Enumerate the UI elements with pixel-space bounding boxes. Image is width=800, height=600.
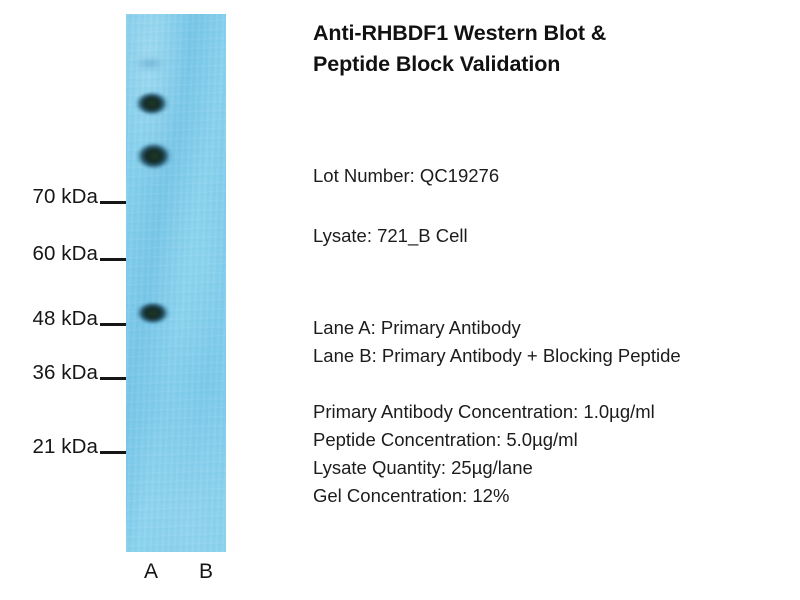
lysate-text: Lysate: 721_B Cell xyxy=(313,224,468,248)
ladder-marker-label: 48 kDa xyxy=(32,307,98,331)
lane-a-description: Lane A: Primary Antibody xyxy=(313,316,521,340)
ladder-marker-60: 60 kDa xyxy=(0,241,126,267)
ladder-marker-36: 36 kDa xyxy=(0,360,126,386)
ladder-marker-label: 70 kDa xyxy=(32,185,98,209)
blot-band-lane-a-mid xyxy=(136,143,173,169)
page-title: Anti-RHBDF1 Western Blot & Peptide Block… xyxy=(313,18,773,80)
gel-concentration: Gel Concentration: 12% xyxy=(313,484,509,508)
ladder-marker-label: 60 kDa xyxy=(32,242,98,266)
figure-caption-panel: Anti-RHBDF1 Western Blot & Peptide Block… xyxy=(313,0,800,600)
lane-label-b: B xyxy=(191,560,221,584)
molecular-weight-ladder: 70 kDa 60 kDa 48 kDa 36 kDa 21 kDa xyxy=(0,0,126,600)
blot-membrane xyxy=(126,14,226,552)
ladder-tick-icon xyxy=(100,201,126,204)
lane-b-description: Lane B: Primary Antibody + Blocking Pept… xyxy=(313,344,681,368)
ladder-marker-70: 70 kDa xyxy=(0,184,126,210)
ladder-marker-48: 48 kDa xyxy=(0,306,126,332)
blot-band-lane-a-48kda xyxy=(136,302,171,324)
blot-band-faint-lane-a xyxy=(134,56,166,71)
ladder-marker-label: 21 kDa xyxy=(32,435,98,459)
blot-band-lane-a-high xyxy=(135,92,170,115)
primary-antibody-concentration: Primary Antibody Concentration: 1.0µg/ml xyxy=(313,400,655,424)
title-line-2: Peptide Block Validation xyxy=(313,52,560,76)
ladder-tick-icon xyxy=(100,258,126,261)
ladder-tick-icon xyxy=(100,451,126,454)
ladder-tick-icon xyxy=(100,323,126,326)
ladder-marker-21: 21 kDa xyxy=(0,434,126,460)
lane-label-a: A xyxy=(136,560,166,584)
ladder-marker-label: 36 kDa xyxy=(32,361,98,385)
title-line-1: Anti-RHBDF1 Western Blot & xyxy=(313,21,606,45)
lot-number-text: Lot Number: QC19276 xyxy=(313,164,499,188)
peptide-concentration: Peptide Concentration: 5.0µg/ml xyxy=(313,428,578,452)
western-blot-figure: 70 kDa 60 kDa 48 kDa 36 kDa 21 kDa A B xyxy=(0,0,300,600)
lysate-quantity: Lysate Quantity: 25µg/lane xyxy=(313,456,533,480)
ladder-tick-icon xyxy=(100,377,126,380)
